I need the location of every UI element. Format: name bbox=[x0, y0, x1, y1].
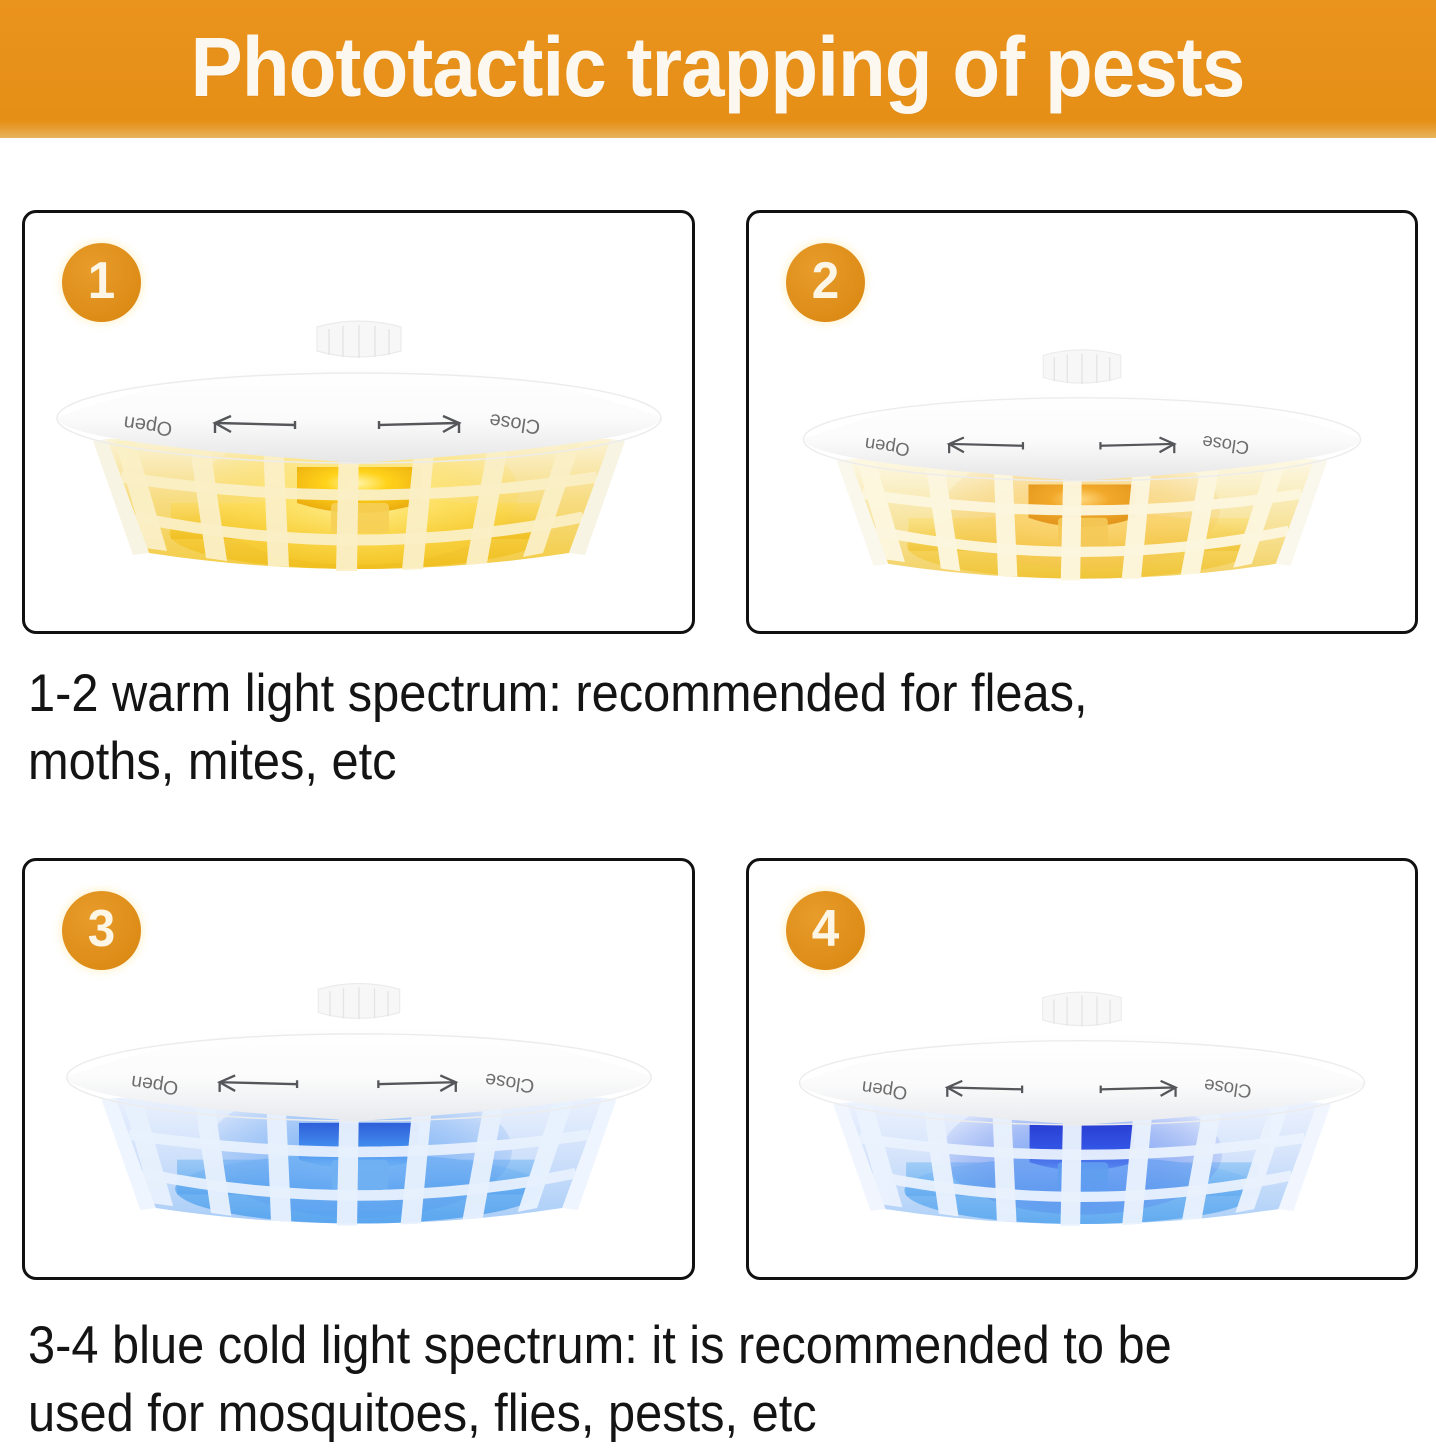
lid-close-label: Close bbox=[483, 1068, 535, 1097]
lid-open-label: Open bbox=[863, 434, 911, 461]
bug-zapper-device: Open Close bbox=[49, 317, 669, 605]
lid-open-label: Open bbox=[122, 411, 174, 440]
step-badge-number: 2 bbox=[812, 255, 839, 307]
product-panel-1: 1 bbox=[22, 210, 695, 634]
header-banner: Phototactic trapping of pests bbox=[0, 0, 1436, 138]
step-badge-number: 3 bbox=[88, 903, 115, 955]
lid-close-label: Close bbox=[487, 409, 541, 438]
product-panel-4: 4 bbox=[746, 858, 1418, 1280]
step-badge-4: 4 bbox=[786, 891, 865, 970]
lid-open-label: Open bbox=[860, 1077, 908, 1104]
step-badge-2: 2 bbox=[786, 243, 865, 322]
lid-close-label: Close bbox=[1203, 1075, 1253, 1102]
bug-zapper-device: Open Close bbox=[792, 979, 1372, 1267]
page-title: Phototactic trapping of pests bbox=[191, 25, 1245, 109]
step-badge-number: 4 bbox=[812, 903, 839, 955]
step-badge-number: 1 bbox=[88, 255, 115, 307]
lid-close-label: Close bbox=[1201, 432, 1251, 459]
bug-zapper-device: Open Close bbox=[796, 335, 1368, 623]
product-panel-2: 2 bbox=[746, 210, 1418, 634]
step-badge-1: 1 bbox=[62, 243, 141, 322]
warm-light-caption: 1-2 warm light spectrum: recommended for… bbox=[28, 660, 1215, 796]
bug-zapper-device: Open Close bbox=[59, 975, 659, 1263]
product-panel-3: 3 bbox=[22, 858, 695, 1280]
step-badge-3: 3 bbox=[62, 891, 141, 970]
lid-open-label: Open bbox=[129, 1071, 179, 1099]
cold-light-caption: 3-4 blue cold light spectrum: it is reco… bbox=[28, 1312, 1252, 1448]
